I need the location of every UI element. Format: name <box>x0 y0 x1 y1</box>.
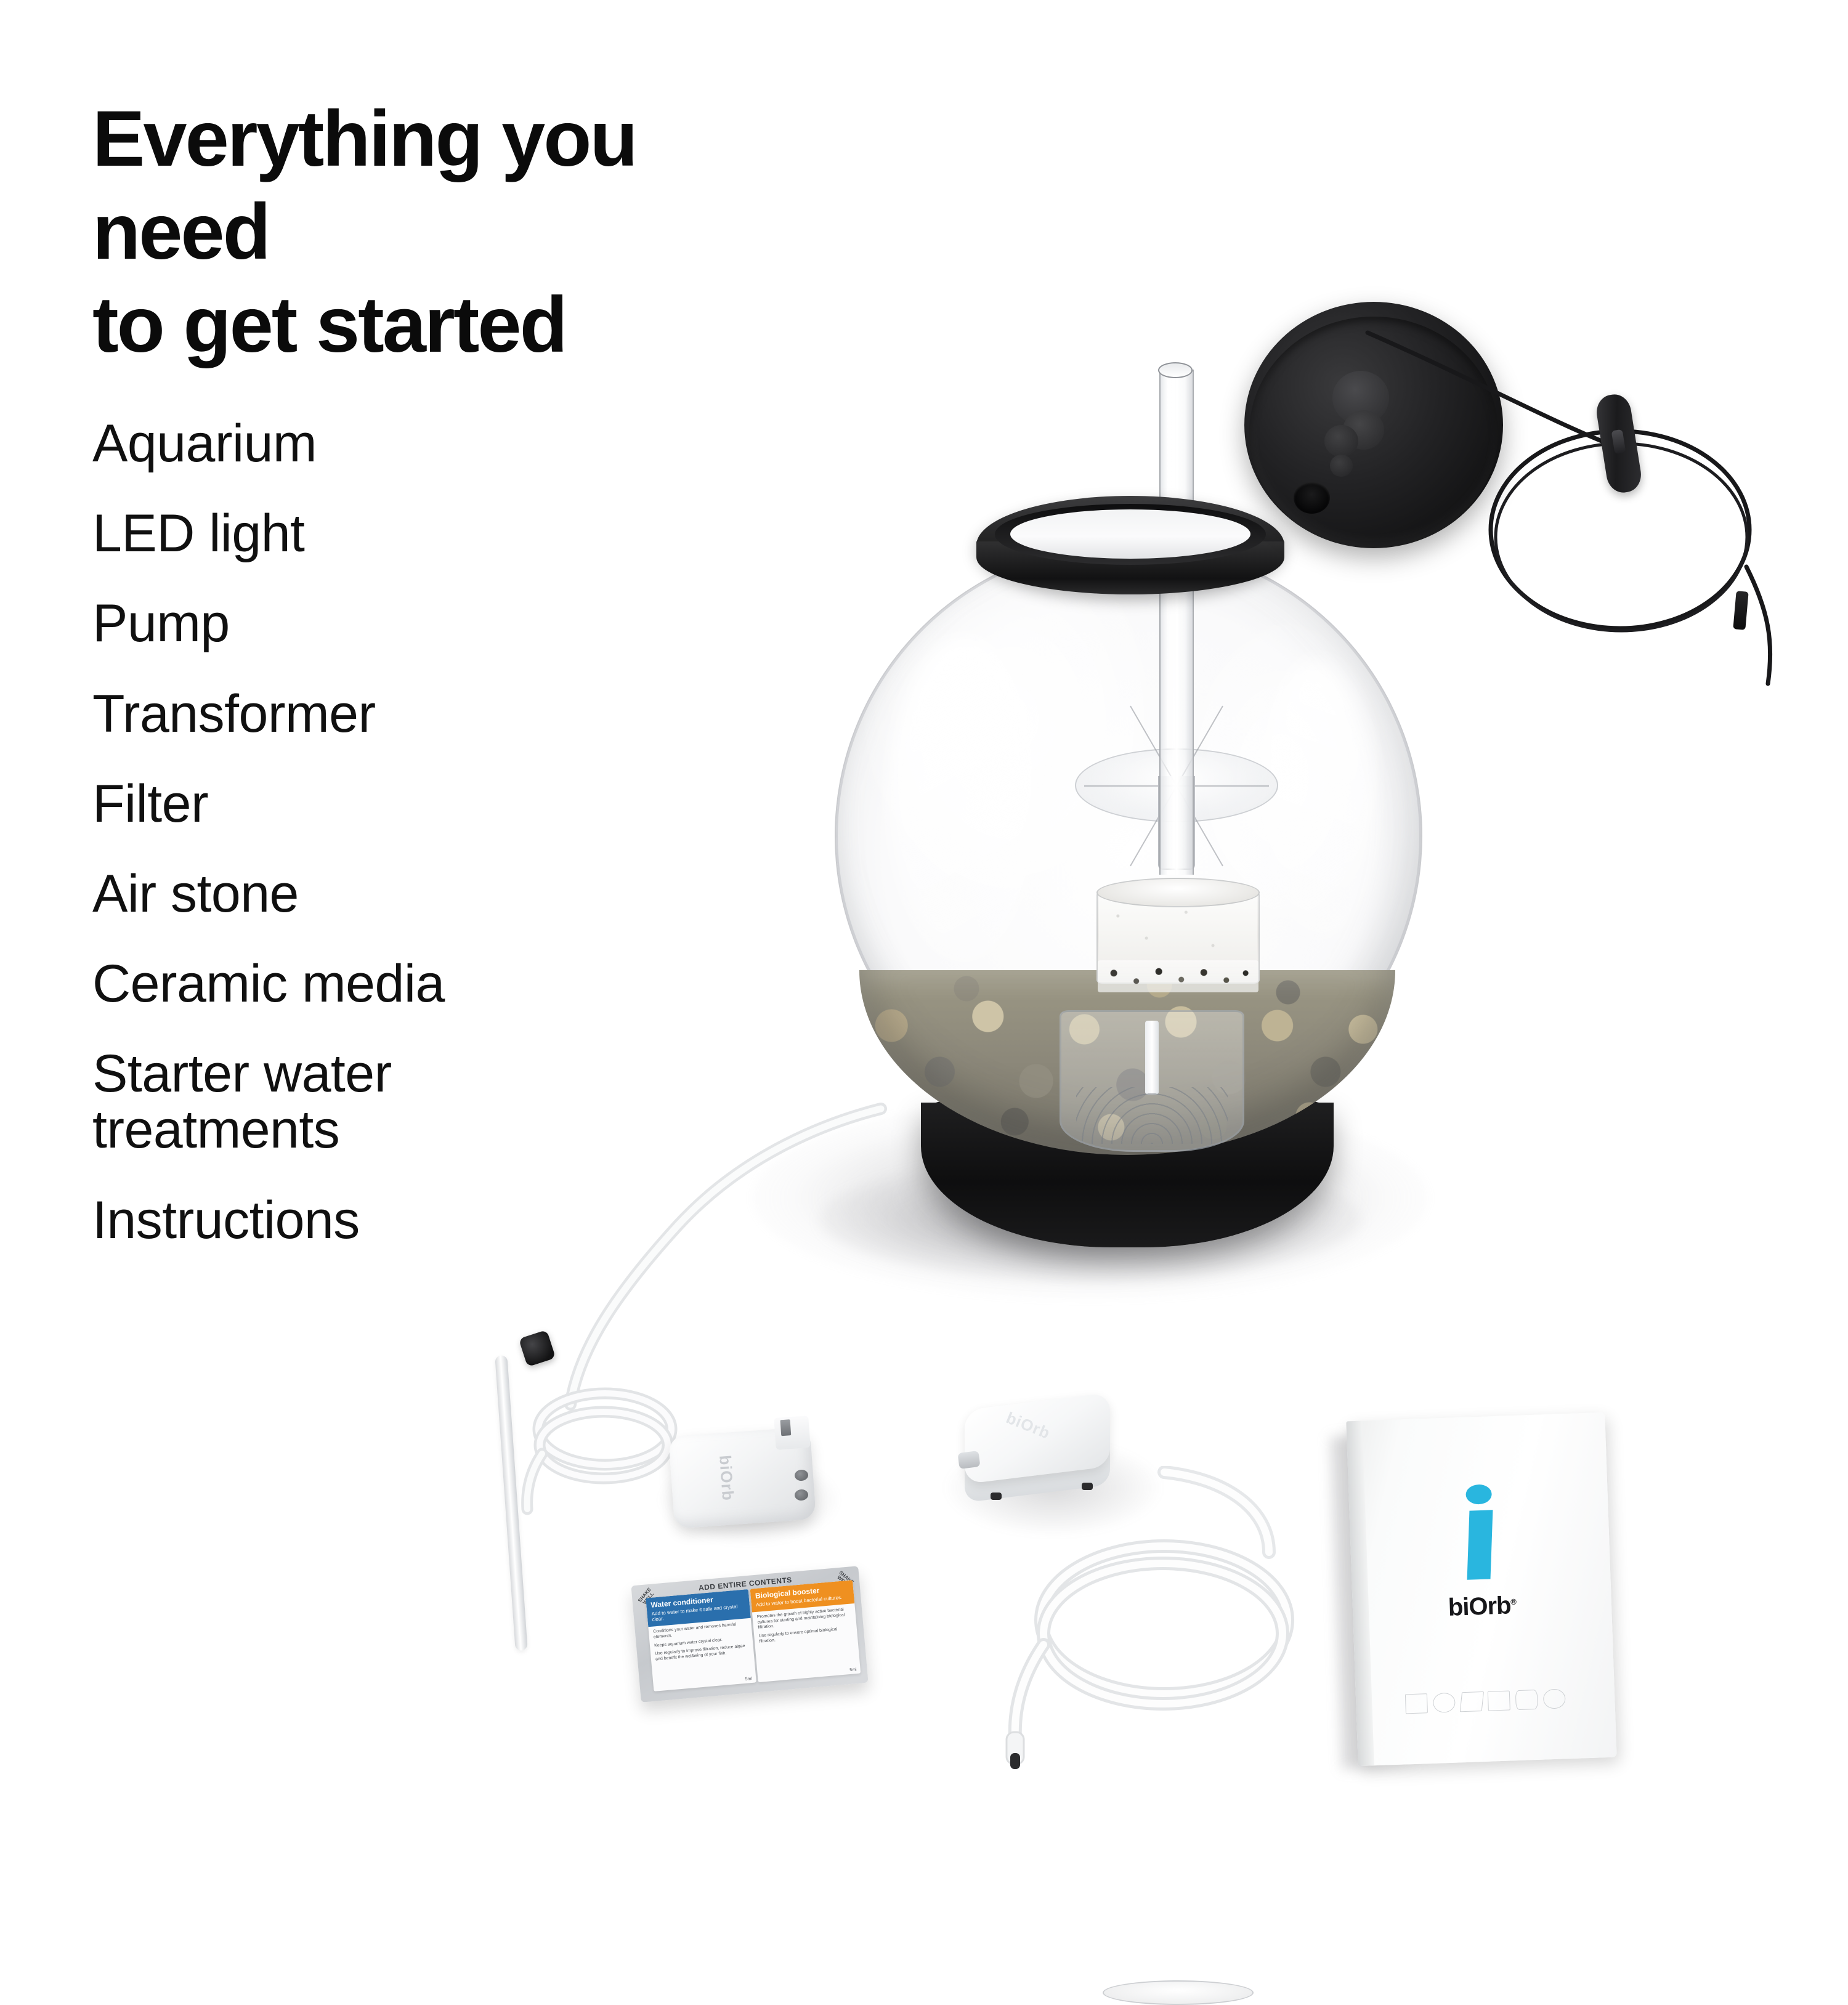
cylinder-tank-icon <box>1515 1690 1538 1710</box>
led-power-cable <box>1343 320 1811 715</box>
cartridge-base <box>1103 1980 1254 2005</box>
filter-grill <box>1076 1087 1228 1144</box>
sachet-card-biological-booster: Biological booster Add to water to boost… <box>750 1580 861 1682</box>
product-photograph: biOrb ADD ENTIRE CONTENTS SHAKEWELL SHAK… <box>0 0 1848 1848</box>
tube-tank-icon <box>1459 1691 1483 1712</box>
filter-cartridge <box>1096 878 1260 1013</box>
conditioner-volume: 5ml <box>745 1677 752 1682</box>
orb-tank-icon <box>1543 1688 1566 1709</box>
infographic-canvas: Everything you need to get started Aquar… <box>0 0 1848 1848</box>
brand-text: biOrb <box>1448 1592 1511 1621</box>
aquarium-collar-ring <box>976 496 1284 594</box>
booster-body: Promotes the growth of highly active bac… <box>752 1603 857 1651</box>
trademark-symbol: ® <box>1510 1597 1516 1606</box>
cartridge-top <box>1096 878 1260 907</box>
orb-tank-icon <box>1433 1693 1456 1713</box>
conditioner-body: Conditions your water and removes harmfu… <box>649 1618 755 1669</box>
booklet-tank-icon-row <box>1405 1685 1566 1717</box>
cube-tank-icon <box>1488 1690 1510 1711</box>
coiled-airline-tubing <box>979 1466 1324 1786</box>
power-transformer: biOrb <box>671 1417 832 1540</box>
filter-rod <box>1145 1021 1159 1095</box>
booster-volume: 5ml <box>849 1667 857 1672</box>
cartridge-carbon-band <box>1098 960 1258 992</box>
instruction-booklet: biOrb® <box>1346 1412 1616 1766</box>
riser-tube-opening <box>1158 362 1193 378</box>
pump-air-nozzle <box>958 1451 981 1469</box>
filter-housing <box>1060 1010 1244 1152</box>
info-icon-stem <box>1467 1510 1493 1580</box>
collar-opening <box>1010 509 1250 559</box>
transformer-brand-label: biOrb <box>715 1454 737 1501</box>
sachet-card-water-conditioner: Water conditioner Add to water to make i… <box>646 1589 756 1691</box>
switch-rocker[interactable] <box>1611 429 1626 454</box>
water-treatment-sachet: ADD ENTIRE CONTENTS SHAKEWELL SHAKEWELL … <box>631 1566 868 1703</box>
cube-tank-icon <box>1405 1693 1428 1714</box>
clear-riser-tube <box>1159 370 1194 875</box>
transformer-plug-pins <box>774 1416 810 1450</box>
